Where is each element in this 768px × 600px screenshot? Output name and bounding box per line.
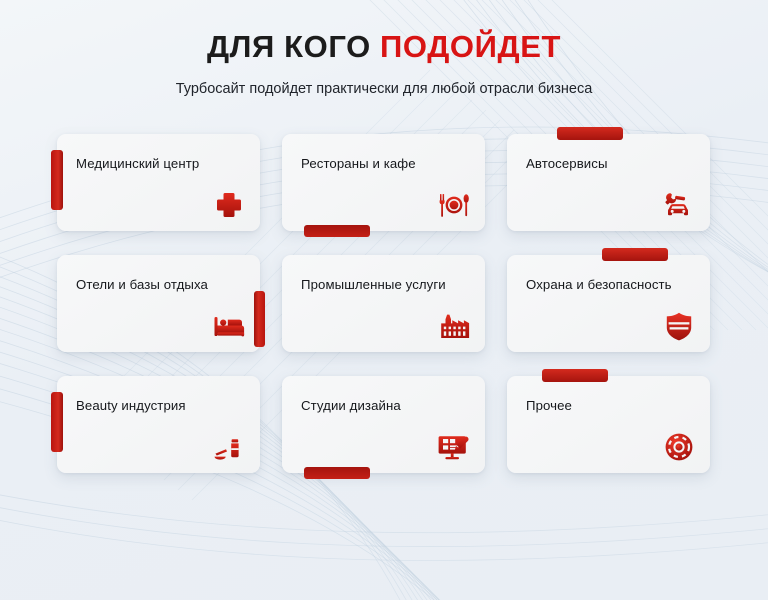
card-beauty-industry[interactable]: Beauty индустрия (57, 376, 260, 473)
card-hotels-resorts[interactable]: Отели и базы отдыха (57, 255, 260, 352)
accent-bar-bottom-left (304, 467, 370, 479)
page-title-accent: ПОДОЙДЕТ (380, 29, 561, 64)
page-subtitle: Турбосайт подойдет практически для любой… (0, 81, 768, 97)
card-industrial-services[interactable]: Промышленные услуги (282, 255, 485, 352)
card-label: Студии дизайна (301, 398, 401, 413)
accent-bar-top-right (602, 248, 668, 261)
card-other[interactable]: Прочее (507, 376, 710, 473)
medical-cross-icon (212, 188, 246, 222)
card-label: Beauty индустрия (76, 398, 186, 413)
card-label: Автосервисы (526, 156, 608, 171)
card-label: Прочее (526, 398, 572, 413)
car-wrench-icon (662, 188, 696, 222)
bed-icon (212, 309, 246, 343)
card-security-safety[interactable]: Охрана и безопасность (507, 255, 710, 352)
page-header: ДЛЯ КОГО ПОДОЙДЕТ Турбосайт подойдет пра… (0, 0, 768, 97)
industry-cards-grid: Медицинский центр Рестораны и кафе (57, 134, 711, 473)
monitor-pen-icon (437, 430, 471, 464)
card-label: Промышленные услуги (301, 277, 446, 292)
card-restaurants-cafes[interactable]: Рестораны и кафе (282, 134, 485, 231)
card-auto-services[interactable]: Автосервисы (507, 134, 710, 231)
accent-bar-left (51, 392, 63, 452)
card-label: Отели и базы отдыха (76, 277, 208, 292)
card-design-studios[interactable]: Студии дизайна (282, 376, 485, 473)
accent-bar-top-left (542, 369, 608, 382)
accent-bar-left (51, 150, 63, 210)
accent-bar-top (557, 127, 623, 140)
card-label: Охрана и безопасность (526, 277, 672, 292)
page-title-plain: ДЛЯ КОГО (207, 29, 380, 64)
fork-plate-spoon-icon (437, 188, 471, 222)
accent-bar-bottom-left (304, 225, 370, 237)
shield-icon (662, 309, 696, 343)
cosmetics-icon (212, 430, 246, 464)
card-label: Рестораны и кафе (301, 156, 416, 171)
page-title: ДЛЯ КОГО ПОДОЙДЕТ (0, 31, 768, 64)
factory-icon (437, 309, 471, 343)
accent-bar-right (254, 291, 265, 347)
card-label: Медицинский центр (76, 156, 199, 171)
gear-circle-icon (662, 430, 696, 464)
card-medical-center[interactable]: Медицинский центр (57, 134, 260, 231)
